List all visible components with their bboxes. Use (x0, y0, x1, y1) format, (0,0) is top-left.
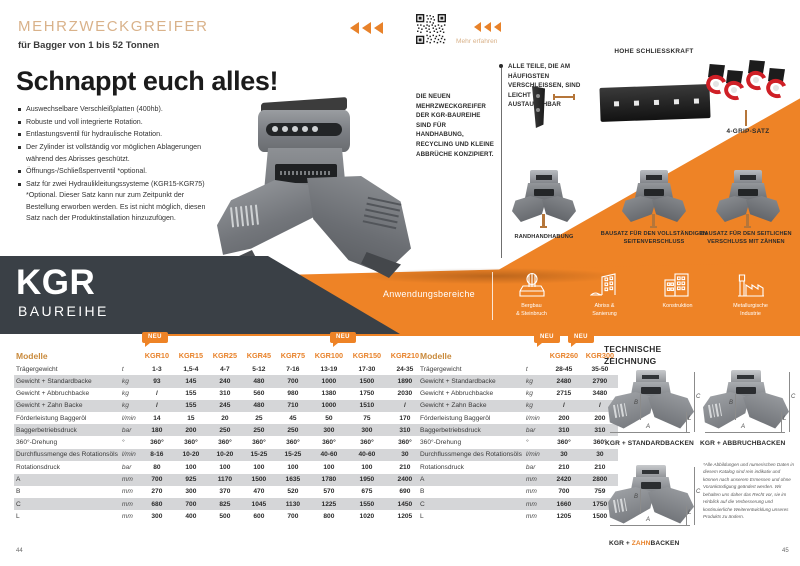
table-title: Modelle (418, 348, 524, 363)
row-label: Durchflussmenge des Rotationsöls (418, 449, 524, 462)
cell: 250 (242, 424, 276, 436)
cell: 13-19 (310, 363, 348, 375)
cell: 300 (310, 424, 348, 436)
application-label: Bergbau& Steinbruch (505, 303, 558, 319)
tech-drawing-title: TECHNISCHE ZEICHNUNG (604, 344, 661, 368)
table-row: Gewicht + Abbruchbackekg27153480 (418, 388, 618, 400)
row-label: B (14, 486, 120, 498)
cell: 560 (242, 388, 276, 400)
cell: 710 (276, 400, 310, 412)
unit-column-header (120, 348, 140, 363)
grip-set-image (706, 60, 792, 110)
dim-label-b: B (729, 400, 733, 406)
cell: 360° (140, 436, 174, 448)
spec-table-right-grid: Modelle KGR260 KGR300 Trägergewichtt28-4… (418, 348, 618, 522)
spec-table-left-grid: Modelle KGR10 KGR15 KGR25 KGR45 KGR75 KG… (14, 348, 424, 522)
cell: 360° (242, 436, 276, 448)
cell: 1660 (546, 498, 582, 510)
applications-label: Anwendungsbereiche (383, 289, 475, 299)
row-unit: mm (120, 510, 140, 522)
tech-drawing-demolition-jaws-image (703, 370, 789, 434)
dim-label-b: B (634, 494, 638, 500)
row-unit: kg (120, 400, 140, 412)
table-row: Lmm30040050060070080010201205 (14, 510, 424, 522)
spec-table-left: Modelle KGR10 KGR15 KGR25 KGR45 KGR75 KG… (14, 348, 424, 522)
table-row: Cmm68070082510451130122515501450 (14, 498, 424, 510)
row-unit: l/min (524, 412, 546, 424)
dim-label-a: A (646, 517, 650, 523)
dim-line-b (640, 489, 641, 514)
application-item-demolition: Abriss &Sanierung (578, 268, 631, 319)
table-row: Amm700925117015001635178019502400 (14, 474, 424, 486)
row-unit: ° (524, 436, 546, 448)
cell: 1-3 (140, 363, 174, 375)
row-unit: mm (524, 486, 546, 498)
cell: 700 (174, 498, 208, 510)
cell: / (546, 400, 582, 412)
cell: 100 (208, 461, 242, 473)
row-label: Rotationsdruck (418, 461, 524, 473)
row-unit: l/min (120, 449, 140, 462)
wear-plate-part-image (599, 84, 710, 122)
cell: 17-30 (348, 363, 386, 375)
cell: 825 (208, 498, 242, 510)
option-caption-edge-handling: RANDHANDHABUNG (486, 233, 602, 241)
row-label: Gewicht + Abbruchbacke (14, 388, 120, 400)
more-info-label: Mehr erfahren (456, 38, 497, 45)
table-row: 360°-Drehung°360°360° (418, 436, 618, 448)
cell: 4-7 (208, 363, 242, 375)
dim-line-l (686, 506, 687, 525)
more-info-arrows (474, 22, 501, 32)
row-label: Gewicht + Abbruchbacke (418, 388, 524, 400)
cell: 360° (174, 436, 208, 448)
cell: 360° (208, 436, 242, 448)
page-title: Schnappt euch alles! (16, 66, 278, 97)
product-image-main-grapple (215, 100, 410, 275)
subkicker-pre: für Bagger von (18, 40, 88, 51)
connector-line (553, 96, 575, 98)
row-unit: kg (524, 375, 546, 387)
application-label: Konstruktion (651, 303, 704, 311)
row-unit: l/min (120, 412, 140, 424)
tech-drawing-caption-demolition: KGR + ABBRUCHBACKEN (700, 440, 785, 447)
cell: 800 (310, 510, 348, 522)
row-unit: l/min (524, 449, 546, 462)
list-item: Öffnungs-/Schließsperrventil *optional. (18, 166, 218, 177)
table-row: Trägergewichtt28-4535-50 (418, 363, 618, 375)
cell: 700 (276, 510, 310, 522)
tech-drawing-caption-tooth: KGR + ZAHNBACKEN (609, 540, 679, 547)
row-label: A (418, 474, 524, 486)
row-label: Baggerbetriebsdruck (14, 424, 120, 436)
row-label: C (14, 498, 120, 510)
row-label: B (418, 486, 524, 498)
product-subkicker: für Bagger von 1 bis 52 Tonnen (18, 40, 159, 51)
row-unit: kg (524, 388, 546, 400)
caption-prefix: KGR + (609, 540, 632, 547)
table-row: Gewicht + Standardbackekg24802790 (418, 375, 618, 387)
dim-line-l (686, 412, 687, 432)
dim-line-b (735, 394, 736, 420)
cell: 30 (546, 449, 582, 462)
dim-line-c (789, 372, 790, 432)
row-label: Gewicht + Zahn Backe (14, 400, 120, 412)
cell: 30 (582, 449, 618, 462)
hero-section: MEHRZWECKGREIFER für Bagger von 1 bis 52… (0, 0, 800, 338)
new-badge-kgr300: NEU (568, 332, 594, 343)
table-row: Gewicht + Zahn Backekg/15524548071010001… (14, 400, 424, 412)
row-unit: bar (120, 461, 140, 473)
row-unit: mm (120, 486, 140, 498)
column-header-kgr100: KGR100 (310, 348, 348, 363)
table-row: Durchflussmenge des Rotationsölsl/min303… (418, 449, 618, 462)
option-image-edge-handling (512, 170, 576, 222)
cell: 1000 (310, 400, 348, 412)
table-row: Gewicht + Zahn Backekg// (418, 400, 618, 412)
dim-label-l: L (783, 416, 786, 422)
cell: 1000 (310, 375, 348, 387)
table-row: Gewicht + Abbruchbackekg/155310560980138… (14, 388, 424, 400)
application-label: MetallurgischeIndustrie (724, 303, 777, 319)
row-unit: mm (524, 474, 546, 486)
arrow-left-icon (374, 22, 383, 34)
cell: / (140, 388, 174, 400)
cell: 1500 (348, 375, 386, 387)
qr-code-icon[interactable] (416, 14, 446, 44)
cell: 2420 (546, 474, 582, 486)
application-item-construction: Konstruktion (651, 268, 704, 319)
cell: 1225 (310, 498, 348, 510)
row-label: Rotationsdruck (14, 461, 120, 473)
column-header-kgr10: KGR10 (140, 348, 174, 363)
list-item: Robuste und voll integrierte Rotation. (18, 117, 218, 128)
cell: 7-16 (276, 363, 310, 375)
table-row: Lmm12051500 (418, 510, 618, 522)
cell: 45 (276, 412, 310, 424)
caption-rest: ABBRUCHBACKEN (723, 440, 786, 447)
cell: 93 (140, 375, 174, 387)
column-header-kgr150: KGR150 (348, 348, 386, 363)
row-unit: bar (120, 424, 140, 436)
wear-parts-text: ALLE TEILE, DIE AM HÄUFIGSTEN VERSCHLEIS… (508, 62, 584, 110)
cell: 310 (208, 388, 242, 400)
option-image-side-closure-teeth (716, 170, 780, 222)
page-number-left: 44 (16, 548, 23, 554)
caption-rest: STANDARDBACKEN (628, 440, 694, 447)
tech-drawing-caption-standard: KGR + STANDARDBACKEN (605, 440, 694, 447)
cell: 180 (140, 424, 174, 436)
cell: 145 (174, 375, 208, 387)
application-label: Abriss &Sanierung (578, 303, 631, 319)
row-unit: mm (120, 474, 140, 486)
cell: 50 (310, 412, 348, 424)
cell: 1,5-4 (174, 363, 208, 375)
row-unit: kg (120, 375, 140, 387)
column-header-kgr260: KGR260 (546, 348, 582, 363)
row-label: Förderleistung Baggeröl (418, 412, 524, 424)
row-label: Gewicht + Standardbacke (14, 375, 120, 387)
dim-label-l: L (688, 510, 691, 516)
cell: 675 (348, 486, 386, 498)
cell: 570 (310, 486, 348, 498)
applications-divider (492, 272, 493, 320)
row-label: 360°-Drehung (418, 436, 524, 448)
mining-icon (505, 268, 558, 302)
row-unit: mm (524, 498, 546, 510)
cell: 25 (242, 412, 276, 424)
subkicker-post: Tonnen (123, 40, 159, 51)
cell: 300 (140, 510, 174, 522)
row-label: Förderleistung Baggeröl (14, 412, 120, 424)
table-header-row: Modelle KGR260 KGR300 (418, 348, 618, 363)
cell: 15 (174, 412, 208, 424)
caption-prefix: KGR + (700, 440, 723, 447)
table-row: Rotationsdruckbar210210 (418, 461, 618, 473)
cell: 360° (546, 436, 582, 448)
row-unit: mm (120, 498, 140, 510)
cell: 400 (174, 510, 208, 522)
cell: 1205 (546, 510, 582, 522)
tech-drawing-tooth-jaws-image (608, 465, 694, 529)
new-badge-kgr150: NEU (330, 332, 356, 343)
cell: 1500 (242, 474, 276, 486)
tech-drawing-standard-jaws-image (608, 370, 694, 434)
cell: 370 (208, 486, 242, 498)
row-label: C (418, 498, 524, 510)
dim-line-c (694, 372, 695, 432)
row-unit: ° (120, 436, 140, 448)
table-header-row: Modelle KGR10 KGR15 KGR25 KGR45 KGR75 KG… (14, 348, 424, 363)
table-row: Cmm16601750 (418, 498, 618, 510)
cell: 1045 (242, 498, 276, 510)
cell: 360° (310, 436, 348, 448)
row-label: Trägergewicht (418, 363, 524, 375)
application-item-metallurgy: MetallurgischeIndustrie (724, 268, 777, 319)
brochure-page: MEHRZWECKGREIFER für Bagger von 1 bis 52… (0, 0, 800, 566)
connector-pin (745, 112, 747, 126)
cell: 100 (310, 461, 348, 473)
dim-label-a: A (741, 424, 745, 430)
cell: 100 (174, 461, 208, 473)
disclaimer-text: *Alle Abbildungen und numerischen Daten … (703, 461, 795, 521)
cell: 480 (242, 375, 276, 387)
dim-label-c: C (791, 394, 795, 400)
cell: 200 (546, 412, 582, 424)
applications-list: Bergbau& Steinbruch Abriss &Sanierung (505, 268, 800, 319)
cell: 100 (276, 461, 310, 473)
option-image-full-side-closure (622, 170, 686, 222)
spec-table-right: Modelle KGR260 KGR300 Trägergewichtt28-4… (418, 348, 618, 522)
table-row: Baggerbetriebsdruckbar310310 (418, 424, 618, 436)
subkicker-mid: bis (94, 40, 113, 51)
cell: 245 (208, 400, 242, 412)
table-row: Trägergewichtt1-31,5-44-75-127-1613-1917… (14, 363, 424, 375)
cell: 1550 (348, 498, 386, 510)
dim-line-a (610, 525, 690, 526)
cell: 28-45 (546, 363, 582, 375)
table-row: Förderleistung Baggeröll/min141520254550… (14, 412, 424, 424)
cell: 240 (208, 375, 242, 387)
row-unit: t (524, 363, 546, 375)
cell: 2715 (546, 388, 582, 400)
row-unit: bar (524, 461, 546, 473)
cell: 14 (140, 412, 174, 424)
table-row: Amm24202800 (418, 474, 618, 486)
high-closing-force-label: HOHE SCHLIESSKRAFT (594, 48, 714, 55)
qr-code-svg (416, 14, 446, 44)
new-badge-kgr10: NEU (142, 332, 168, 343)
arrow-left-icon (484, 22, 491, 32)
tech-drawing-title-line2: ZEICHNUNG (604, 356, 656, 366)
column-header-kgr45: KGR45 (242, 348, 276, 363)
cell: 8-16 (140, 449, 174, 462)
metallurgy-icon (724, 268, 777, 302)
arrow-left-icon (350, 22, 359, 34)
cell: 40-60 (348, 449, 386, 462)
cell: 100 (242, 461, 276, 473)
row-label: L (14, 510, 120, 522)
row-label: Trägergewicht (14, 363, 120, 375)
cell: 1020 (348, 510, 386, 522)
row-unit: bar (524, 424, 546, 436)
page-number-right: 45 (782, 548, 789, 554)
cell: 15-25 (276, 449, 310, 462)
cell: 1750 (348, 388, 386, 400)
cell: 1780 (310, 474, 348, 486)
list-item: Auswechselbare Verschleißplatten (400hb)… (18, 104, 218, 115)
new-badge-kgr260: NEU (534, 332, 560, 343)
feature-list: Auswechselbare Verschleißplatten (400hb)… (18, 104, 218, 226)
cell: 210 (546, 461, 582, 473)
table-row: Rotationsdruckbar80100100100100100100210 (14, 461, 424, 473)
arrow-left-icon (362, 22, 371, 34)
cell: 100 (348, 461, 386, 473)
cell: 980 (276, 388, 310, 400)
table-row: Förderleistung Baggeröll/min200200 (418, 412, 618, 424)
divider-dot (499, 64, 503, 68)
row-label: Gewicht + Standardbacke (418, 375, 524, 387)
cell: 700 (546, 486, 582, 498)
dim-label-b: B (634, 400, 638, 406)
cell: 250 (276, 424, 310, 436)
cell: 700 (140, 474, 174, 486)
cell: 5-12 (242, 363, 276, 375)
row-unit: mm (524, 510, 546, 522)
cell: 15-25 (242, 449, 276, 462)
column-header-kgr75: KGR75 (276, 348, 310, 363)
tech-drawing-title-line1: TECHNISCHE (604, 344, 661, 354)
cell: 700 (276, 375, 310, 387)
subkicker-max-tons: 52 (113, 40, 124, 51)
cell: 360° (276, 436, 310, 448)
cell: 360° (348, 436, 386, 448)
row-label: A (14, 474, 120, 486)
cell: 270 (140, 486, 174, 498)
demolition-icon (578, 268, 631, 302)
cell: 1380 (310, 388, 348, 400)
table-row: Bmm700759 (418, 486, 618, 498)
list-item: Satz für zwei Hydraulikleitungssysteme (… (18, 179, 218, 225)
caption-prefix: KGR + (605, 440, 628, 447)
cell: 10-20 (174, 449, 208, 462)
row-label: L (418, 510, 524, 522)
cell: 2480 (546, 375, 582, 387)
cell: 470 (242, 486, 276, 498)
row-label: Baggerbetriebsdruck (418, 424, 524, 436)
table-row: Baggerbetriebsdruckbar180200250250250300… (14, 424, 424, 436)
cell: 1130 (276, 498, 310, 510)
cell: 925 (174, 474, 208, 486)
cell: 680 (140, 498, 174, 510)
cell: / (140, 400, 174, 412)
dim-label-c: C (696, 394, 700, 400)
arrow-triple-decoration (350, 22, 383, 34)
series-subtitle: BAUREIHE (18, 303, 109, 319)
cell: 1950 (348, 474, 386, 486)
dim-line-a (610, 432, 690, 433)
table-row: Bmm270300370470520570675690 (14, 486, 424, 498)
arrow-left-icon (474, 22, 481, 32)
list-item: Entlastungsventil für hydraulische Rotat… (18, 129, 218, 140)
list-item: Der Zylinder ist vollständig vor möglich… (18, 142, 218, 165)
cell: 200 (174, 424, 208, 436)
table-row: Durchflussmenge des Rotationsölsl/min8-1… (14, 449, 424, 462)
column-header-kgr15: KGR15 (174, 348, 208, 363)
table-row: Gewicht + Standardbackekg931452404807001… (14, 375, 424, 387)
row-unit: t (120, 363, 140, 375)
cell: 1510 (348, 400, 386, 412)
table-title: Modelle (14, 348, 120, 363)
dim-line-a (705, 432, 785, 433)
dim-label-c: C (696, 489, 700, 495)
option-caption-side-closure-teeth: BAUSATZ FÜR DEN SEITLICHEN VERSCHLUSS MI… (692, 230, 800, 247)
cell: 40-60 (310, 449, 348, 462)
construction-icon (651, 268, 704, 302)
cell: 300 (348, 424, 386, 436)
cell: 300 (174, 486, 208, 498)
cell: 310 (546, 424, 582, 436)
intro-text: DIE NEUEN MEHRZWECKGREIFER DER KGR-BAURE… (416, 92, 494, 159)
column-header-kgr25: KGR25 (208, 348, 242, 363)
row-unit: kg (524, 400, 546, 412)
row-label: Gewicht + Zahn Backe (418, 400, 524, 412)
cell: 1635 (276, 474, 310, 486)
arrow-left-icon (494, 22, 501, 32)
caption-highlight: ZAHN (632, 540, 651, 547)
divider-vertical (501, 68, 502, 258)
cell: 80 (140, 461, 174, 473)
cell: 250 (208, 424, 242, 436)
cell: 155 (174, 388, 208, 400)
caption-rest: BACKEN (651, 540, 680, 547)
row-label: Durchflussmenge des Rotationsöls (14, 449, 120, 462)
cell: 20 (208, 412, 242, 424)
cell: 155 (174, 400, 208, 412)
application-item-mining: Bergbau& Steinbruch (505, 268, 558, 319)
cell: 520 (276, 486, 310, 498)
dim-line-c (694, 467, 695, 525)
row-label: 360°-Drehung (14, 436, 120, 448)
cell: 10-20 (208, 449, 242, 462)
cell: 500 (208, 510, 242, 522)
cell: 75 (348, 412, 386, 424)
series-name: KGR (16, 263, 95, 303)
row-unit: kg (120, 388, 140, 400)
cell: 600 (242, 510, 276, 522)
dim-line-l (781, 412, 782, 432)
grip-set-label: 4-GRIP-SATZ (700, 128, 796, 135)
